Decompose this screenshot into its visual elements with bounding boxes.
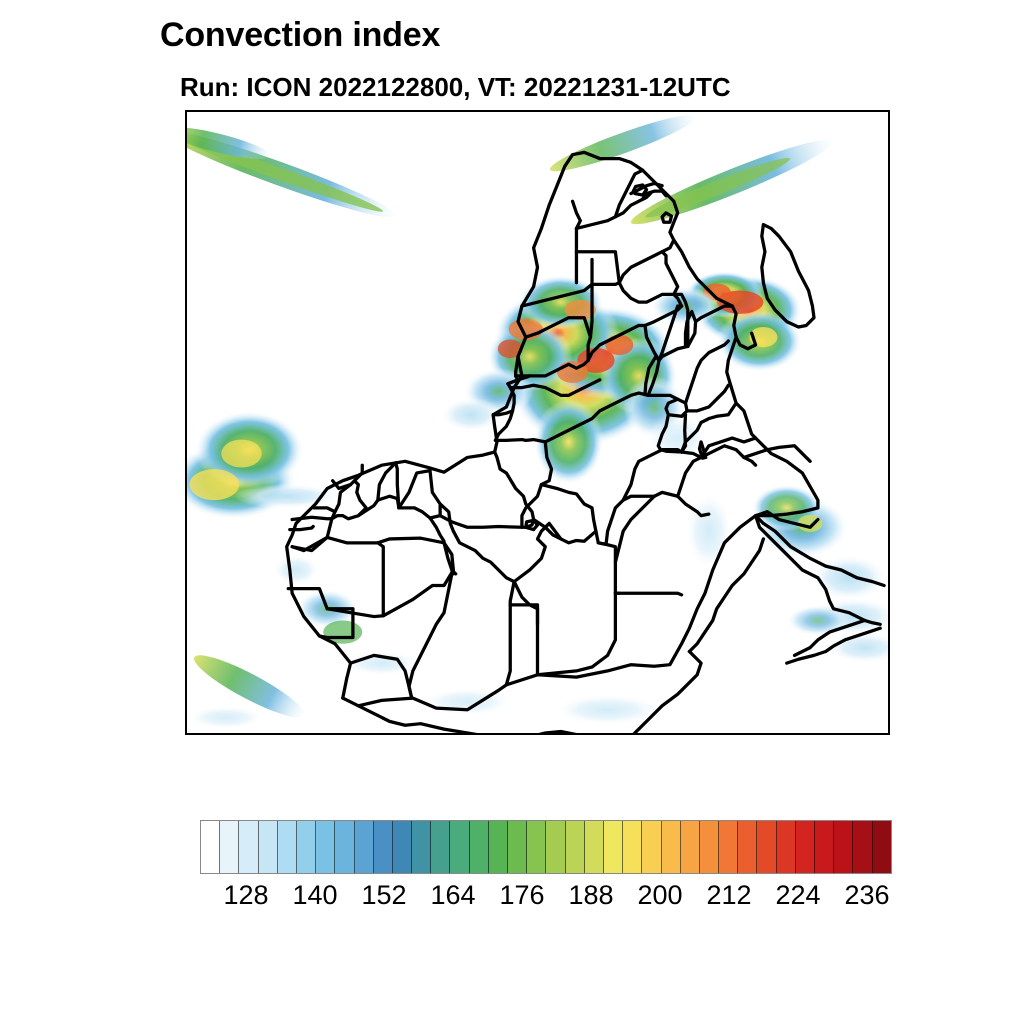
colorbar-cell <box>719 821 738 873</box>
colorbar-tick-label: 224 <box>775 880 820 911</box>
colorbar-cell <box>585 821 604 873</box>
colorbar-cell <box>777 821 796 873</box>
colorbar-cell <box>316 821 335 873</box>
colorbar-cell <box>489 821 508 873</box>
colorbar-cell <box>470 821 489 873</box>
xtick-30E <box>657 733 659 735</box>
colorbar-cell <box>374 821 393 873</box>
colorbar-tick-label: 176 <box>499 880 544 911</box>
xtick-20W <box>265 733 267 735</box>
map-plot-area: 30N 0 30S 30W 0 30E 60E <box>185 110 890 735</box>
colorbar-cell <box>393 821 412 873</box>
colorbar-cell <box>508 821 527 873</box>
xtick-0 <box>422 733 424 735</box>
xtick-40E <box>735 733 737 735</box>
colorbar-cell <box>527 821 546 873</box>
colorbar-cell <box>853 821 872 873</box>
colorbar-cell <box>355 821 374 873</box>
page-subtitle: Run: ICON 2022122800, VT: 20221231-12UTC <box>180 72 731 103</box>
colorbar-cell <box>431 821 450 873</box>
colorbar-cell <box>297 821 316 873</box>
colorbar-tick-label: 152 <box>361 880 406 911</box>
colorbar-cell <box>642 821 661 873</box>
colorbar-tick-label: 128 <box>223 880 268 911</box>
colorbar-cell <box>815 821 834 873</box>
colorbar-cell <box>566 821 585 873</box>
page-title: Convection index <box>160 16 440 55</box>
colorbar-labels: 128140152164176188200212224236 <box>200 880 890 914</box>
xtick-10W <box>344 733 346 735</box>
colorbar-cell <box>662 821 681 873</box>
colorbar-tick-label: 236 <box>844 880 889 911</box>
colorbar-tick-label: 188 <box>568 880 613 911</box>
colorbar <box>200 820 892 874</box>
colorbar-cell <box>604 821 623 873</box>
colorbar-cell <box>201 821 220 873</box>
colorbar-cell <box>700 821 719 873</box>
colorbar-cell <box>220 821 239 873</box>
xtick-30W <box>187 733 189 735</box>
colorbar-cell <box>623 821 642 873</box>
colorbar-cell <box>834 821 853 873</box>
colorbar-cell <box>335 821 354 873</box>
colorbar-tick-label: 212 <box>706 880 751 911</box>
xtick-10E <box>500 733 502 735</box>
colorbar-tick-label: 200 <box>637 880 682 911</box>
xtick-20E <box>579 733 581 735</box>
colorbar-cell <box>278 821 297 873</box>
colorbar-cell <box>738 821 757 873</box>
colorbar-cell <box>796 821 815 873</box>
colorbar-tick-label: 164 <box>430 880 475 911</box>
colorbar-cell <box>873 821 891 873</box>
colorbar-cell <box>412 821 431 873</box>
colorbar-cell <box>450 821 469 873</box>
colorbar-cell <box>546 821 565 873</box>
colorbar-cell <box>757 821 776 873</box>
colorbar-cell <box>259 821 278 873</box>
xtick-50E <box>814 733 816 735</box>
colorbar-tick-label: 140 <box>292 880 337 911</box>
colorbar-cell <box>681 821 700 873</box>
map-canvas <box>187 112 888 733</box>
colorbar-cell <box>239 821 258 873</box>
